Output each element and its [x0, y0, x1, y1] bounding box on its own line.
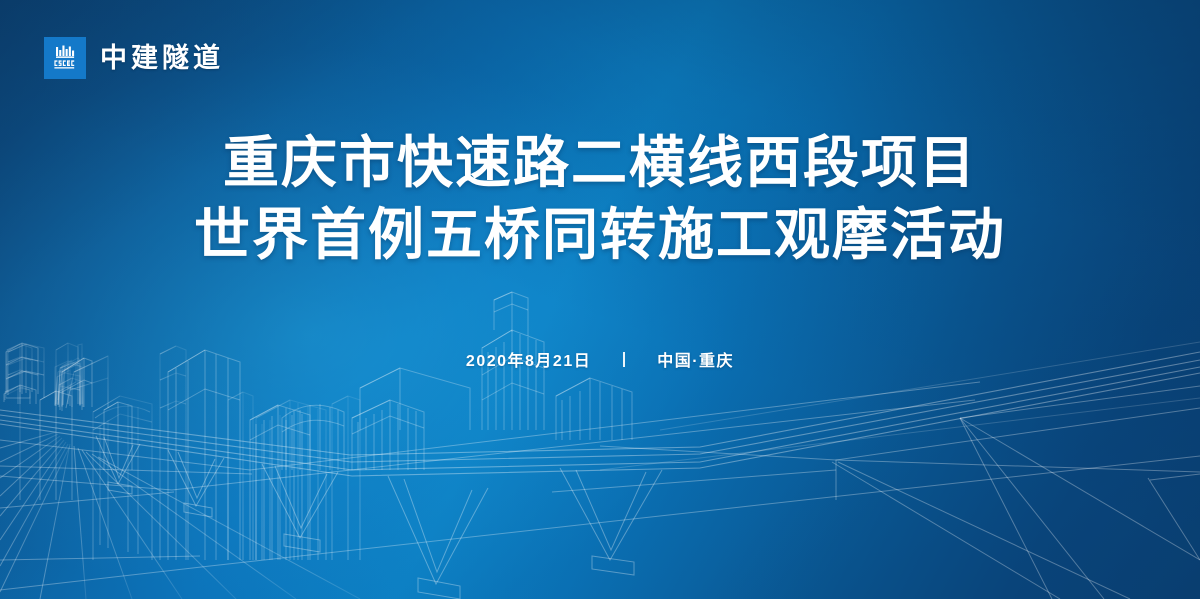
title-line-2: 世界首例五桥同转施工观摩活动: [0, 199, 1200, 271]
title-line-1: 重庆市快速路二横线西段项目: [0, 127, 1200, 199]
page-title: 重庆市快速路二横线西段项目 世界首例五桥同转施工观摩活动: [0, 127, 1200, 270]
cscec-logo-icon: [44, 37, 86, 79]
brand-logo: 中建隧道: [44, 37, 224, 79]
event-date: 2020年8月21日: [466, 347, 591, 371]
event-location: 中国·重庆: [657, 347, 734, 371]
event-banner: 中建隧道 重庆市快速路二横线西段项目 世界首例五桥同转施工观摩活动 2020年8…: [0, 0, 1200, 599]
meta-separator: [623, 352, 625, 367]
background-shade-bottom-right: [0, 0, 1200, 599]
company-name: 中建隧道: [100, 45, 224, 72]
event-meta: 2020年8月21日 中国·重庆: [0, 347, 1200, 371]
